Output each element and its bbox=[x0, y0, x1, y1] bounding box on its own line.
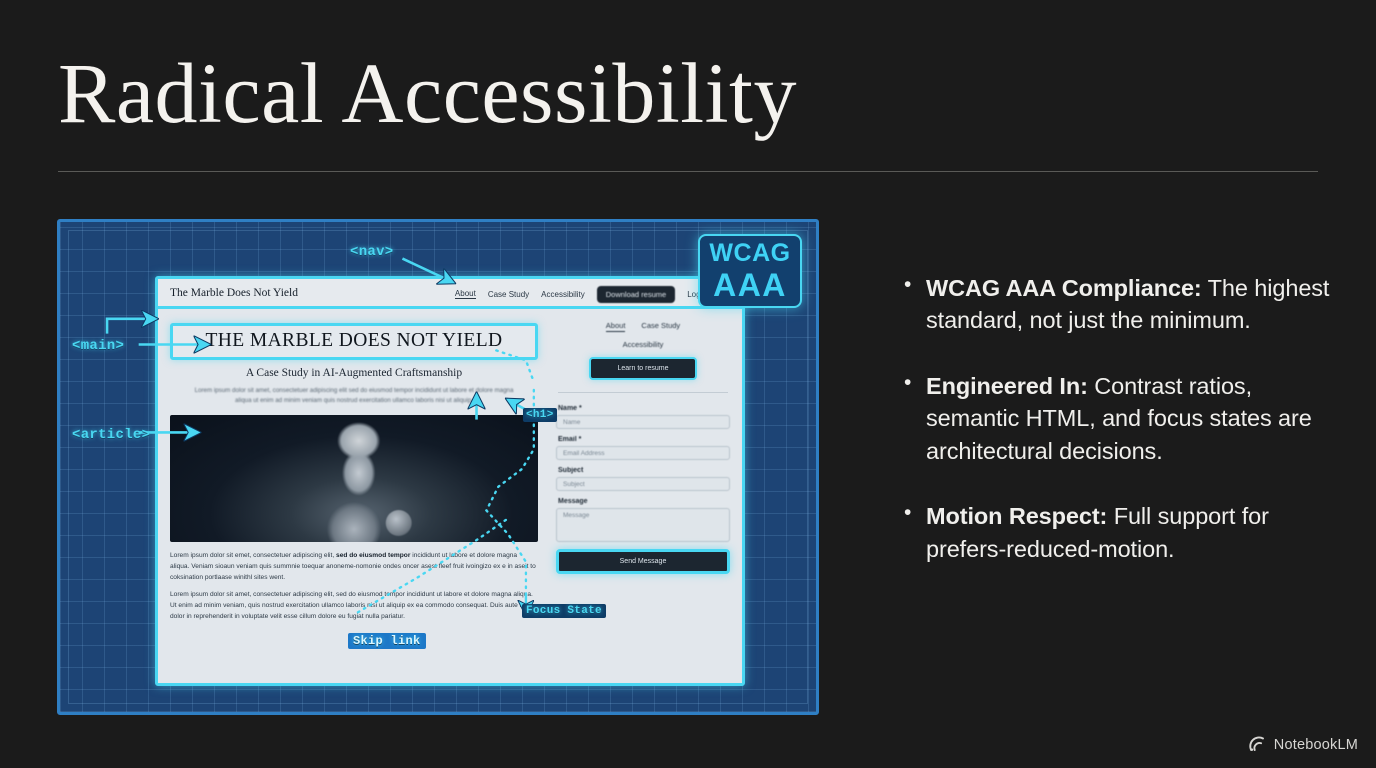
slide-root: Radical Accessibility The Marble Does No… bbox=[0, 0, 1376, 768]
label-message: Message bbox=[558, 498, 730, 505]
bullet-lead-engineered: Engineered In: bbox=[926, 373, 1088, 399]
site-nav-links: About Case Study Accessibility Download … bbox=[455, 279, 732, 309]
bullet-lead-motion: Motion Respect: bbox=[926, 503, 1107, 529]
blueprint-mockup-panel: The Marble Does Not Yield About Case Stu… bbox=[57, 219, 819, 715]
sidebar-column: About Case Study Accessibility Learn to … bbox=[548, 309, 742, 683]
site-brand: The Marble Does Not Yield bbox=[170, 287, 298, 299]
site-lede: Lorem ipsum dolor sit amet, consectetuer… bbox=[188, 386, 520, 405]
article-paragraph-1: Lorem ipsum dolor sit emet, consectetuer… bbox=[170, 551, 538, 583]
annotation-main: <main> bbox=[72, 338, 124, 354]
sidebar-divider bbox=[558, 392, 728, 393]
bullet-item-engineered: Engineered In: Contrast ratios, semantic… bbox=[898, 370, 1330, 467]
label-subject: Subject bbox=[558, 467, 730, 474]
download-resume-button[interactable]: Download resume bbox=[597, 286, 675, 303]
footer-product-name: NotebookLM bbox=[1274, 737, 1358, 753]
sidebar-link-accessibility[interactable]: Accessibility bbox=[556, 340, 730, 349]
label-name: Name * bbox=[558, 405, 730, 412]
label-email: Email * bbox=[558, 436, 730, 443]
bullet-list: WCAG AAA Compliance: The highest standar… bbox=[898, 272, 1330, 565]
annotation-article: <article> bbox=[72, 427, 150, 443]
input-message[interactable]: Message bbox=[556, 508, 730, 542]
h1-focus-outline: THE MARBLE DOES NOT YIELD bbox=[170, 323, 538, 360]
input-email[interactable]: Email Address bbox=[556, 446, 730, 460]
sidebar-nav: About Case Study bbox=[556, 321, 730, 332]
hero-statue-image bbox=[170, 415, 538, 542]
site-subtitle: A Case Study in AI-Augmented Craftsmansh… bbox=[170, 367, 538, 379]
notebooklm-logo-icon bbox=[1248, 735, 1267, 754]
title-divider bbox=[58, 171, 1318, 172]
para1-bold: sed do eiusmod tempor bbox=[336, 552, 410, 559]
annotation-nav: <nav> bbox=[350, 244, 394, 260]
site-body: THE MARBLE DOES NOT YIELD A Case Study i… bbox=[158, 309, 742, 683]
send-message-button[interactable]: Send Message bbox=[556, 549, 730, 574]
sidebar-link-about[interactable]: About bbox=[606, 321, 626, 332]
input-subject[interactable]: Subject bbox=[556, 477, 730, 491]
article-body: Lorem ipsum dolor sit emet, consectetuer… bbox=[170, 551, 538, 622]
nav-link-about[interactable]: About bbox=[455, 289, 476, 299]
bullet-lead-wcag: WCAG AAA Compliance: bbox=[926, 275, 1202, 301]
site-nav-bar: The Marble Does Not Yield About Case Stu… bbox=[158, 279, 742, 309]
para1-part-a: Lorem ipsum dolor sit emet, consectetuer… bbox=[170, 552, 336, 559]
article-paragraph-2: Lorem ipsum dolor sit amet, consectetuer… bbox=[170, 590, 538, 622]
annotation-skip-link: Skip link bbox=[348, 633, 426, 649]
site-headline: THE MARBLE DOES NOT YIELD bbox=[181, 330, 527, 352]
sidebar-cta-button[interactable]: Learn to resume bbox=[589, 357, 697, 380]
nav-link-accessibility[interactable]: Accessibility bbox=[541, 290, 585, 299]
footer-brand: NotebookLM bbox=[1248, 735, 1358, 754]
sidebar-link-case-study[interactable]: Case Study bbox=[641, 321, 680, 332]
annotation-focus-state: Focus State bbox=[522, 604, 606, 618]
main-content-column: THE MARBLE DOES NOT YIELD A Case Study i… bbox=[158, 309, 548, 683]
statue-figure bbox=[300, 415, 418, 542]
wcag-aaa-badge: WCAG AAA bbox=[698, 234, 802, 308]
bullet-item-motion: Motion Respect: Full support for prefers… bbox=[898, 500, 1330, 565]
page-title: Radical Accessibility bbox=[58, 48, 797, 138]
bullet-item-wcag: WCAG AAA Compliance: The highest standar… bbox=[898, 272, 1330, 337]
annotation-h1: <h1> bbox=[523, 408, 557, 422]
browser-window-mockup: The Marble Does Not Yield About Case Stu… bbox=[155, 276, 745, 686]
input-name[interactable]: Name bbox=[556, 415, 730, 429]
wcag-badge-line1: WCAG bbox=[709, 241, 790, 266]
nav-link-case-study[interactable]: Case Study bbox=[488, 290, 529, 299]
wcag-badge-line2: AAA bbox=[713, 269, 787, 301]
